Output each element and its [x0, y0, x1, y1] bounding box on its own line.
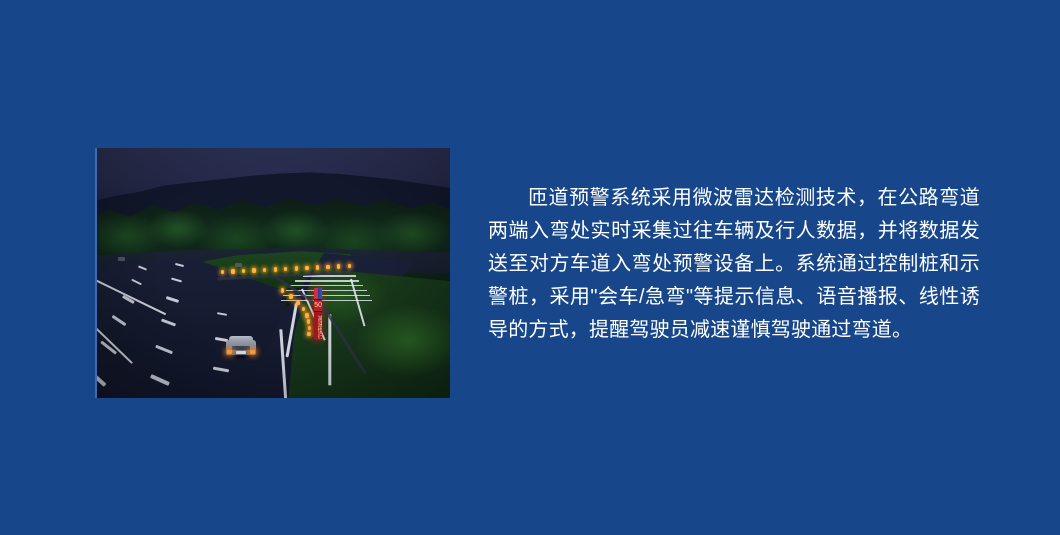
- led-delineator: [242, 269, 245, 274]
- led-delineator: [326, 265, 329, 270]
- vehicle-rear-window: [232, 346, 250, 350]
- led-delineator: [289, 294, 292, 299]
- vehicle-license-plate: [236, 351, 246, 354]
- sign-message-text: 减速慢行: [314, 312, 322, 340]
- led-delineator: [274, 267, 277, 272]
- led-delineator: [307, 332, 310, 337]
- slide-canvas: 50 减速慢行 匝道预警系统采用微波雷达检测技术，在公路弯道两端入弯处实时采集过…: [0, 0, 1060, 535]
- distant-vehicle: [118, 257, 125, 261]
- sign-speed-limit: 50: [314, 300, 322, 311]
- led-delineator: [252, 268, 255, 273]
- led-delineator: [348, 264, 351, 269]
- led-delineator: [221, 270, 224, 275]
- description-paragraph: 匝道预警系统采用微波雷达检测技术，在公路弯道两端入弯处实时采集过往车辆及行人数据…: [488, 182, 980, 347]
- led-delineator: [231, 269, 234, 274]
- brake-light-right: [250, 350, 255, 354]
- led-delineator: [316, 265, 319, 270]
- ramp-warning-photo: 50 减速慢行: [95, 148, 450, 398]
- variable-warning-sign: 50 减速慢行: [314, 288, 322, 340]
- led-delineator: [337, 264, 340, 269]
- description-text-block: 匝道预警系统采用微波雷达检测技术，在公路弯道两端入弯处实时采集过往车辆及行人数据…: [488, 182, 980, 347]
- led-delineator: [305, 266, 308, 271]
- foreground-vehicle: [226, 336, 256, 356]
- led-delineator: [296, 301, 299, 306]
- distant-vehicle: [235, 263, 242, 267]
- led-delineator: [281, 288, 284, 293]
- brake-light-left: [227, 350, 232, 354]
- vehicle-body: [226, 340, 256, 355]
- led-delineator: [295, 266, 298, 271]
- sign-indicator-lamps: [314, 288, 322, 299]
- photo-scene: 50 减速慢行: [97, 148, 450, 398]
- ramp-outer-edge-line-lower: [329, 314, 332, 385]
- led-delineator: [305, 313, 308, 318]
